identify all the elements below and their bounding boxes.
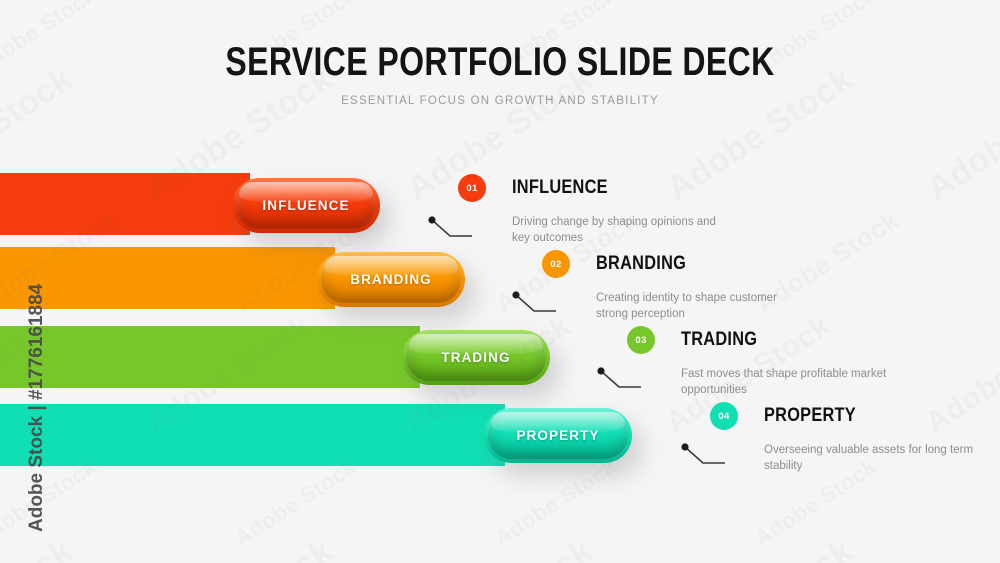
info-block-property: 04PROPERTYOverseeing valuable assets for… — [710, 402, 974, 474]
info-title: PROPERTY — [764, 405, 856, 427]
pill-button-property[interactable]: PROPERTY — [484, 408, 632, 463]
info-title: INFLUENCE — [512, 177, 608, 199]
pill-label: TRADING — [402, 330, 550, 385]
info-block-branding: 02BRANDINGCreating identity to shape cus… — [542, 250, 806, 322]
pill-button-branding[interactable]: BRANDING — [317, 252, 465, 307]
info-title: TRADING — [681, 329, 757, 351]
info-description: Fast moves that shape profitable market … — [681, 366, 891, 398]
info-description: Overseeing valuable assets for long term… — [764, 442, 974, 474]
watermark-text: Adobe Stock — [920, 532, 1000, 563]
category-bar — [0, 326, 420, 388]
category-bar — [0, 247, 335, 309]
page-subtitle: ESSENTIAL FOCUS ON GROWTH AND STABILITY — [0, 95, 1000, 107]
info-headline: 04PROPERTY — [710, 402, 974, 430]
info-headline: 02BRANDING — [542, 250, 806, 278]
pill-label: PROPERTY — [484, 408, 632, 463]
watermark-text: Adobe Stock — [660, 532, 860, 563]
info-block-influence: 01INFLUENCEDriving change by shaping opi… — [458, 174, 722, 246]
page-title: SERVICE PORTFOLIO SLIDE DECK — [100, 40, 900, 84]
step-number-badge: 04 — [710, 402, 738, 430]
pill-label: INFLUENCE — [232, 178, 380, 233]
watermark-text: Adobe Stock — [490, 454, 622, 552]
watermark-text: Adobe Stock — [230, 454, 362, 552]
category-bar — [0, 173, 250, 235]
watermark-text: Adobe Stock — [0, 454, 102, 552]
page-header: SERVICE PORTFOLIO SLIDE DECK ESSENTIAL F… — [0, 40, 1000, 107]
pill-button-influence[interactable]: INFLUENCE — [232, 178, 380, 233]
info-description: Creating identity to shape customer stro… — [596, 290, 806, 322]
info-headline: 01INFLUENCE — [458, 174, 722, 202]
info-headline: 03TRADING — [627, 326, 891, 354]
pill-button-trading[interactable]: TRADING — [402, 330, 550, 385]
info-title: BRANDING — [596, 253, 686, 275]
watermark-text: Adobe Stock — [0, 532, 80, 563]
watermark-text: Adobe Stock — [140, 532, 340, 563]
category-bar — [0, 404, 505, 466]
step-number-badge: 03 — [627, 326, 655, 354]
step-number-badge: 01 — [458, 174, 486, 202]
watermark-text: Adobe Stock — [400, 532, 600, 563]
info-description: Driving change by shaping opinions and k… — [512, 214, 722, 246]
info-block-trading: 03TRADINGFast moves that shape profitabl… — [627, 326, 891, 398]
pill-label: BRANDING — [317, 252, 465, 307]
step-number-badge: 02 — [542, 250, 570, 278]
